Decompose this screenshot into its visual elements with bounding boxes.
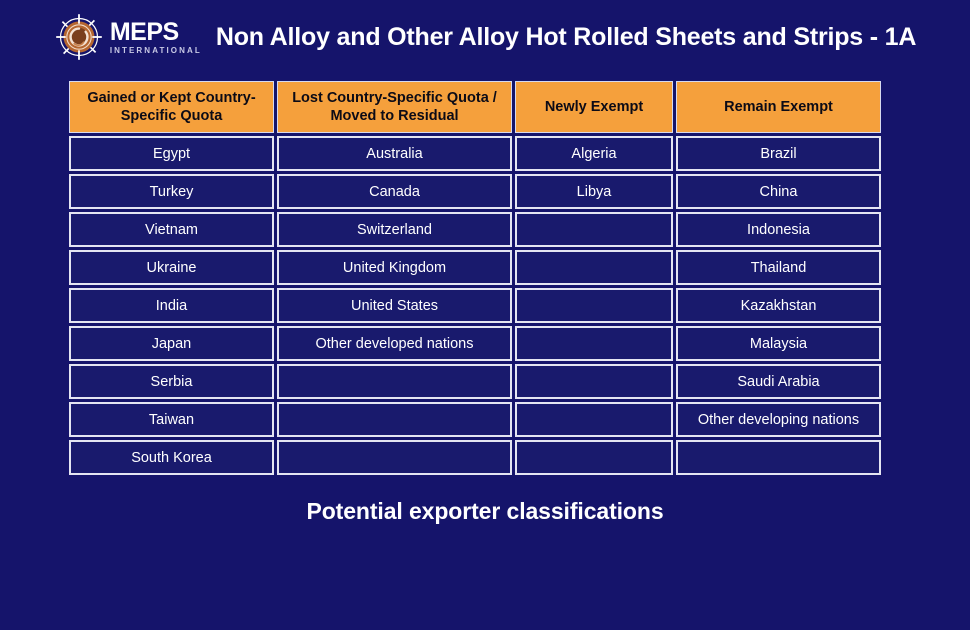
table-row: Japan Other developed nations Malaysia [69,326,881,361]
cell-newly-exempt [515,440,673,475]
table-header-row-group: Gained or Kept Country-Specific Quota Lo… [69,81,881,133]
page-title: Non Alloy and Other Alloy Hot Rolled She… [216,23,916,52]
column-header-gained-kept-quota: Gained or Kept Country-Specific Quota [69,81,274,133]
cell-newly-exempt [515,288,673,323]
cell-gained-kept-quota: South Korea [69,440,274,475]
cell-gained-kept-quota: Vietnam [69,212,274,247]
table-body: Egypt Australia Algeria Brazil Turkey Ca… [69,136,881,475]
slide-root: MEPS INTERNATIONAL Non Alloy and Other A… [0,0,970,630]
table-row: Ukraine United Kingdom Thailand [69,250,881,285]
cell-newly-exempt [515,402,673,437]
cell-newly-exempt [515,326,673,361]
cell-newly-exempt [515,364,673,399]
cell-remain-exempt: Malaysia [676,326,881,361]
cell-gained-kept-quota: Japan [69,326,274,361]
cell-gained-kept-quota: India [69,288,274,323]
brand-name: MEPS [110,20,179,45]
cell-gained-kept-quota: Egypt [69,136,274,171]
cell-remain-exempt: Brazil [676,136,881,171]
slide-header: MEPS INTERNATIONAL Non Alloy and Other A… [0,0,970,74]
cell-lost-quota: Switzerland [277,212,512,247]
cell-newly-exempt: Libya [515,174,673,209]
table-header-row: Gained or Kept Country-Specific Quota Lo… [69,81,881,133]
cell-remain-exempt: Saudi Arabia [676,364,881,399]
cell-remain-exempt: Kazakhstan [676,288,881,323]
table-row: India United States Kazakhstan [69,288,881,323]
classification-table: Gained or Kept Country-Specific Quota Lo… [66,78,884,478]
cell-lost-quota [277,402,512,437]
cell-remain-exempt: Other developing nations [676,402,881,437]
table-row: Turkey Canada Libya China [69,174,881,209]
cell-gained-kept-quota: Taiwan [69,402,274,437]
slide-caption: Potential exporter classifications [0,498,970,525]
cell-lost-quota: United Kingdom [277,250,512,285]
table-row: Taiwan Other developing nations [69,402,881,437]
cell-lost-quota: Canada [277,174,512,209]
cell-lost-quota: Australia [277,136,512,171]
cell-newly-exempt: Algeria [515,136,673,171]
classification-table-container: Gained or Kept Country-Specific Quota Lo… [69,81,881,475]
cell-gained-kept-quota: Serbia [69,364,274,399]
cell-lost-quota [277,364,512,399]
column-header-newly-exempt: Newly Exempt [515,81,673,133]
table-row: Vietnam Switzerland Indonesia [69,212,881,247]
brand-lockup: MEPS INTERNATIONAL [54,12,202,62]
cell-lost-quota [277,440,512,475]
cell-remain-exempt: Thailand [676,250,881,285]
cell-newly-exempt [515,250,673,285]
column-header-remain-exempt: Remain Exempt [676,81,881,133]
cell-remain-exempt [676,440,881,475]
cell-gained-kept-quota: Turkey [69,174,274,209]
cell-remain-exempt: China [676,174,881,209]
table-row: Serbia Saudi Arabia [69,364,881,399]
column-header-lost-quota: Lost Country-Specific Quota / Moved to R… [277,81,512,133]
brand-tagline: INTERNATIONAL [110,47,202,55]
meps-circular-logo-icon [54,12,104,62]
table-row: Egypt Australia Algeria Brazil [69,136,881,171]
cell-remain-exempt: Indonesia [676,212,881,247]
cell-newly-exempt [515,212,673,247]
table-row: South Korea [69,440,881,475]
cell-lost-quota: Other developed nations [277,326,512,361]
cell-gained-kept-quota: Ukraine [69,250,274,285]
cell-lost-quota: United States [277,288,512,323]
brand-wordmark: MEPS INTERNATIONAL [110,20,202,55]
